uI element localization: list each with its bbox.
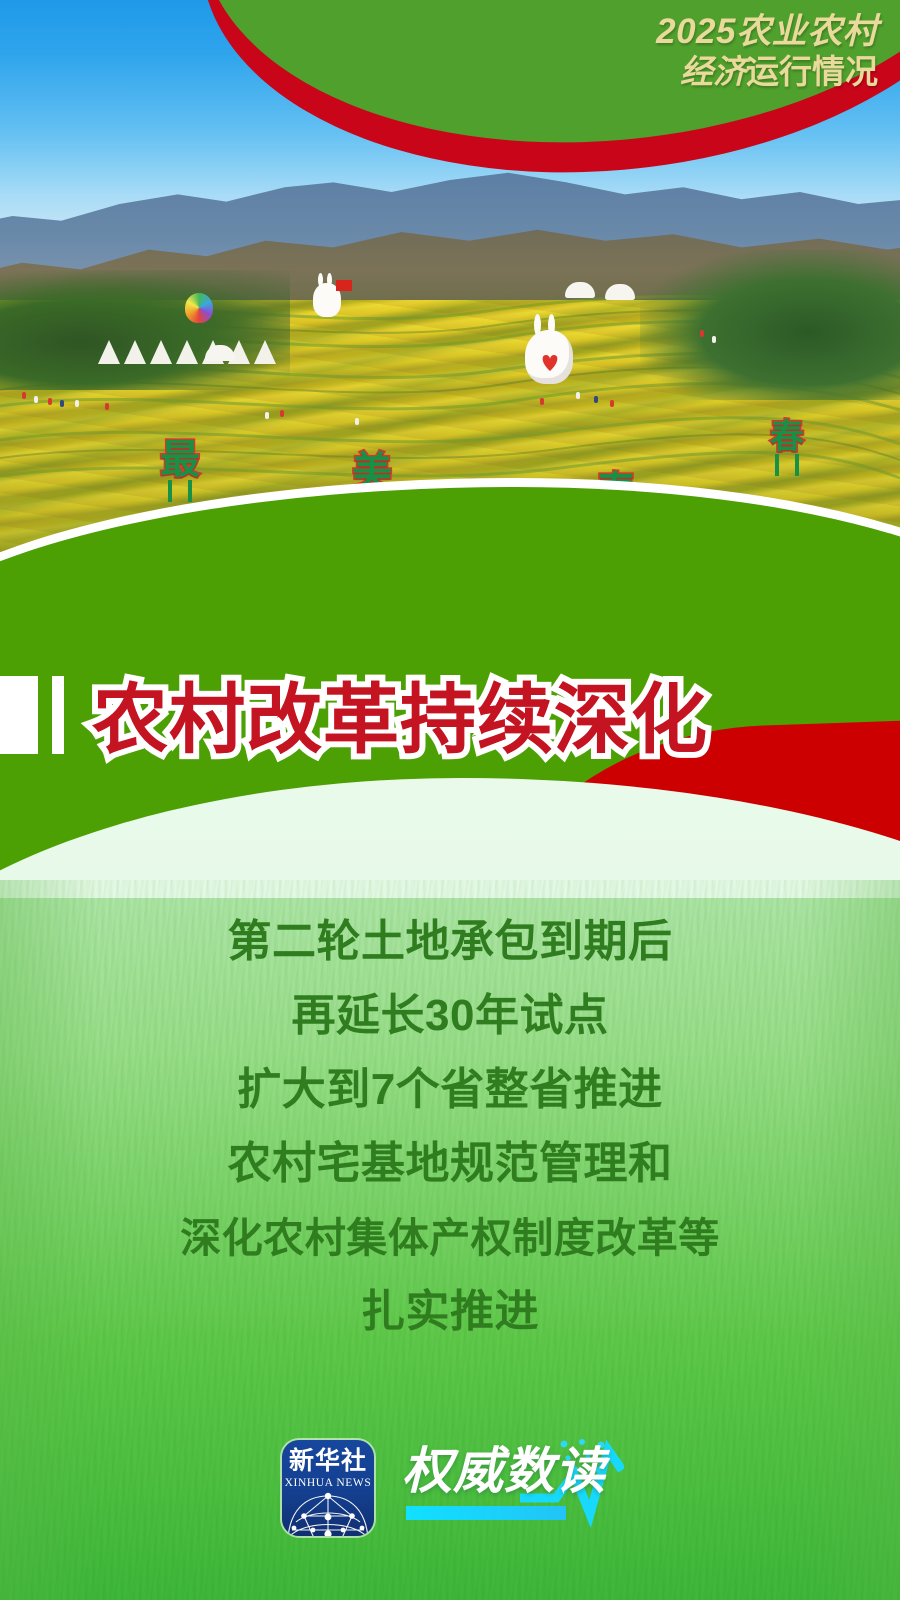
footer: 新华社 XINHUA NEWS	[0, 1418, 900, 1558]
visitor-dot	[610, 400, 614, 407]
rabbit-statue	[525, 330, 573, 384]
accent-bar-thin	[52, 676, 64, 754]
body-line: 深化农村集体产权制度改革等	[0, 1201, 900, 1275]
body-line: 扎实推进	[0, 1275, 900, 1349]
body-line: 农村宅基地规范管理和	[0, 1127, 900, 1201]
header-title: 2025农业农村 经济运行情况	[656, 14, 878, 88]
body-line: 扩大到7个省整省推进	[0, 1053, 900, 1127]
field-sign-text: 最	[160, 438, 200, 482]
brand-text: 权威数读	[402, 1446, 606, 1496]
accent-bar-wide	[0, 676, 38, 754]
visitor-dot	[48, 398, 52, 405]
body-line: 第二轮土地承包到期后	[0, 905, 900, 979]
visitor-dot	[34, 396, 38, 403]
visitor-dot	[712, 336, 716, 343]
visitor-dot	[22, 392, 26, 399]
field-sign-1: 最	[160, 440, 200, 480]
sign-legs	[772, 454, 802, 476]
visitor-dot	[265, 412, 269, 419]
visitor-dot	[576, 392, 580, 399]
visitor-dot	[700, 330, 704, 337]
visitor-dot	[60, 400, 64, 407]
title-accent-bars	[0, 676, 64, 754]
header-title-rest: 运行情况	[746, 53, 878, 90]
tent	[150, 340, 172, 364]
tent	[98, 340, 120, 364]
header-title-emphasis: 经济	[680, 53, 746, 90]
header-title-line2: 经济运行情况	[656, 55, 878, 89]
network-globe-icon	[282, 1492, 374, 1536]
red-flag	[336, 280, 352, 291]
body-text: 第二轮土地承包到期后 再延长30年试点 扩大到7个省整省推进 农村宅基地规范管理…	[0, 905, 900, 1349]
visitor-dot	[594, 396, 598, 403]
tent	[124, 340, 146, 364]
field-sign-text: 春	[770, 418, 804, 456]
main-title: 农村改革持续深化	[92, 658, 708, 768]
infographic-poster: 最 美 春 春 2025农业农村 经济运行情况	[0, 0, 900, 1600]
xinhua-logo-cn: 新华社	[289, 1449, 367, 1474]
visitor-dot	[355, 418, 359, 425]
header-title-line1: 2025农业农村	[656, 14, 878, 50]
authoritative-data-logo: 权威数读	[398, 1438, 618, 1538]
tree-cluster-right	[640, 250, 900, 400]
body-line: 再延长30年试点	[0, 979, 900, 1053]
tent	[254, 340, 276, 364]
visitor-dot	[105, 403, 109, 410]
xinhua-news-logo: 新华社 XINHUA NEWS	[282, 1440, 374, 1536]
xinhua-logo-en: XINHUA NEWS	[285, 1478, 372, 1490]
visitor-dot	[280, 410, 284, 417]
field-sign-4: 春	[770, 420, 804, 454]
tent-row	[98, 330, 288, 364]
visitor-dot	[540, 398, 544, 405]
tent	[176, 340, 198, 364]
visitor-dot	[75, 400, 79, 407]
hot-air-balloon	[185, 293, 213, 323]
